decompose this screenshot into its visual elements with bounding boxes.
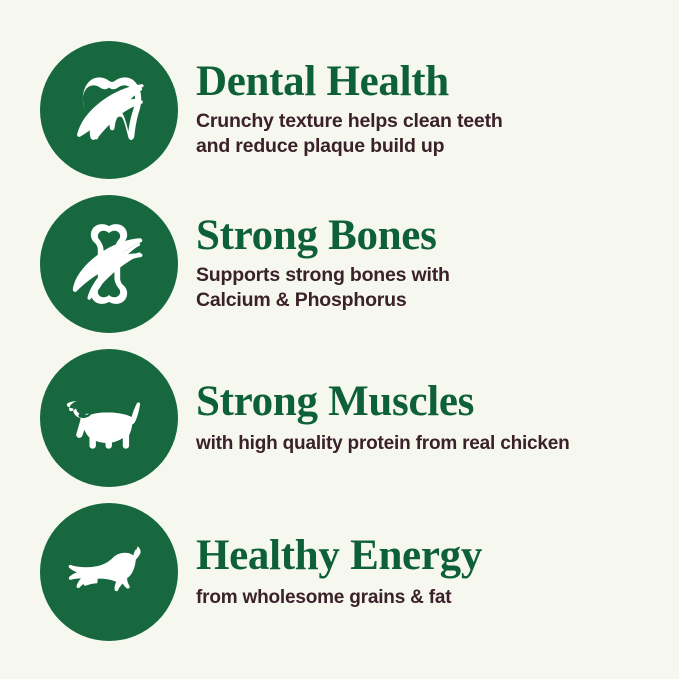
benefit-description-line: Supports strong bones with bbox=[196, 263, 667, 289]
benefit-row: Dental Health Crunchy texture helps clea… bbox=[0, 33, 679, 187]
tooth-leaf-icon bbox=[66, 67, 152, 153]
standing-dog-icon bbox=[63, 372, 155, 464]
benefit-description-line: Calcium & Phosphorus bbox=[196, 288, 667, 314]
benefit-description: from wholesome grains & fat bbox=[196, 585, 667, 610]
benefit-description: Supports strong bones with Calcium & Pho… bbox=[196, 263, 667, 314]
benefit-row: Strong Bones Supports strong bones with … bbox=[0, 187, 679, 341]
benefit-description: with high quality protein from real chic… bbox=[196, 431, 667, 456]
benefit-text: Strong Bones Supports strong bones with … bbox=[196, 214, 679, 314]
bone-leaf-icon bbox=[66, 221, 152, 307]
benefit-description-line: and reduce plaque build up bbox=[196, 134, 667, 160]
benefit-description-line: with high quality protein from real chic… bbox=[196, 431, 667, 456]
benefits-panel: Dental Health Crunchy texture helps clea… bbox=[0, 0, 679, 679]
benefit-icon-badge bbox=[40, 503, 178, 641]
benefit-icon-badge bbox=[40, 195, 178, 333]
benefit-row: Healthy Energy from wholesome grains & f… bbox=[0, 495, 679, 649]
benefit-description-line: from wholesome grains & fat bbox=[196, 585, 667, 610]
benefit-description-line: Crunchy texture helps clean teeth bbox=[196, 109, 667, 135]
leaping-dog-icon bbox=[61, 524, 157, 620]
benefit-title: Strong Bones bbox=[196, 214, 667, 259]
benefit-title: Healthy Energy bbox=[196, 534, 667, 579]
benefit-icon-badge bbox=[40, 349, 178, 487]
benefit-text: Dental Health Crunchy texture helps clea… bbox=[196, 60, 679, 160]
benefit-text: Strong Muscles with high quality protein… bbox=[196, 380, 679, 456]
benefit-icon-badge bbox=[40, 41, 178, 179]
benefit-title: Strong Muscles bbox=[196, 380, 667, 425]
benefit-row: Strong Muscles with high quality protein… bbox=[0, 341, 679, 495]
benefit-title: Dental Health bbox=[196, 60, 667, 105]
benefit-text: Healthy Energy from wholesome grains & f… bbox=[196, 534, 679, 610]
benefit-description: Crunchy texture helps clean teeth and re… bbox=[196, 109, 667, 160]
